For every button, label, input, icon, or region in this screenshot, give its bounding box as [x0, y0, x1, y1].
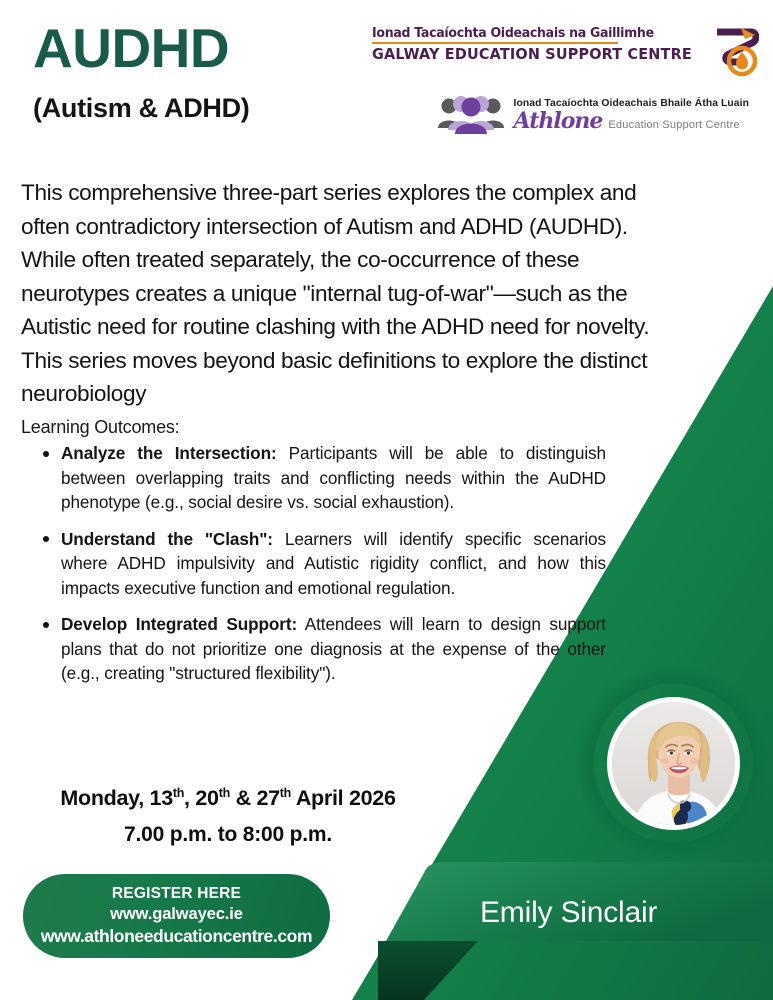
poster-header: AUDHD (Autism & ADHD) Ionad Tacaíochta O… [0, 0, 773, 150]
learning-outcomes-heading: Learning Outcomes: [21, 417, 180, 438]
date-mid-1: , 20 [184, 786, 219, 810]
avatar [607, 697, 740, 830]
date-ordinal-2: th [219, 786, 230, 800]
learning-outcomes-list: Analyze the Intersection: Participants w… [38, 441, 606, 698]
event-date: Monday, 13th, 20th & 27th April 2026 [28, 786, 428, 811]
speaker-name: Emily Sinclair [480, 896, 657, 930]
date-mid-2: & 27 [230, 786, 280, 810]
date-ordinal-3: th [280, 786, 291, 800]
speaker-portrait-illustration [612, 702, 735, 825]
galway-logo-rule [372, 42, 618, 44]
event-time: 7.00 p.m. to 8:00 p.m. [28, 823, 428, 847]
poster-root: AUDHD (Autism & ADHD) Ionad Tacaíochta O… [0, 0, 773, 1000]
outcome-lead: Develop Integrated Support: [61, 614, 297, 634]
galway-logo-english-text: GALWAY EDUCATION SUPPORT CENTRE [372, 45, 692, 63]
date-prefix: Monday, 13 [60, 786, 173, 810]
page-title: AUDHD [33, 20, 229, 78]
galway-logo-irish-text: Ionad Tacaíochta Oideachais na Gaillimhe [372, 26, 689, 41]
galway-education-support-centre-logo: Ionad Tacaíochta Oideachais na Gaillimhe… [372, 26, 759, 80]
date-ordinal-1: th [173, 786, 184, 800]
register-url-athlone[interactable]: www.athloneeducationcentre.com [41, 926, 312, 947]
banner-fold-shape [378, 941, 478, 1000]
page-subtitle: (Autism & ADHD) [33, 93, 249, 124]
outcome-lead: Analyze the Intersection: [61, 443, 277, 463]
register-heading: REGISTER HERE [112, 885, 241, 903]
athlone-logo-tagline: Education Support Centre [608, 119, 739, 131]
list-item: Understand the "Clash": Learners will id… [38, 527, 606, 601]
athlone-wordmark: Athlone [514, 110, 603, 132]
speaker-portrait-photo [612, 702, 735, 825]
register-url-galway[interactable]: www.galwayec.ie [110, 905, 243, 924]
intro-paragraph: This comprehensive three-part series exp… [21, 176, 686, 411]
outcome-lead: Understand the "Clash": [61, 529, 273, 549]
list-item: Analyze the Intersection: Participants w… [38, 441, 606, 515]
list-item: Develop Integrated Support: Attendees wi… [38, 612, 606, 686]
register-button[interactable]: REGISTER HERE www.galwayec.ie www.athlon… [23, 874, 330, 958]
date-suffix: April 2026 [291, 786, 396, 810]
athlone-people-logo-icon [436, 94, 506, 136]
galway-flame-logo-icon [711, 26, 759, 80]
athlone-education-support-centre-logo: Ionad Tacaíochta Oideachais Bhaile Átha … [436, 94, 749, 136]
